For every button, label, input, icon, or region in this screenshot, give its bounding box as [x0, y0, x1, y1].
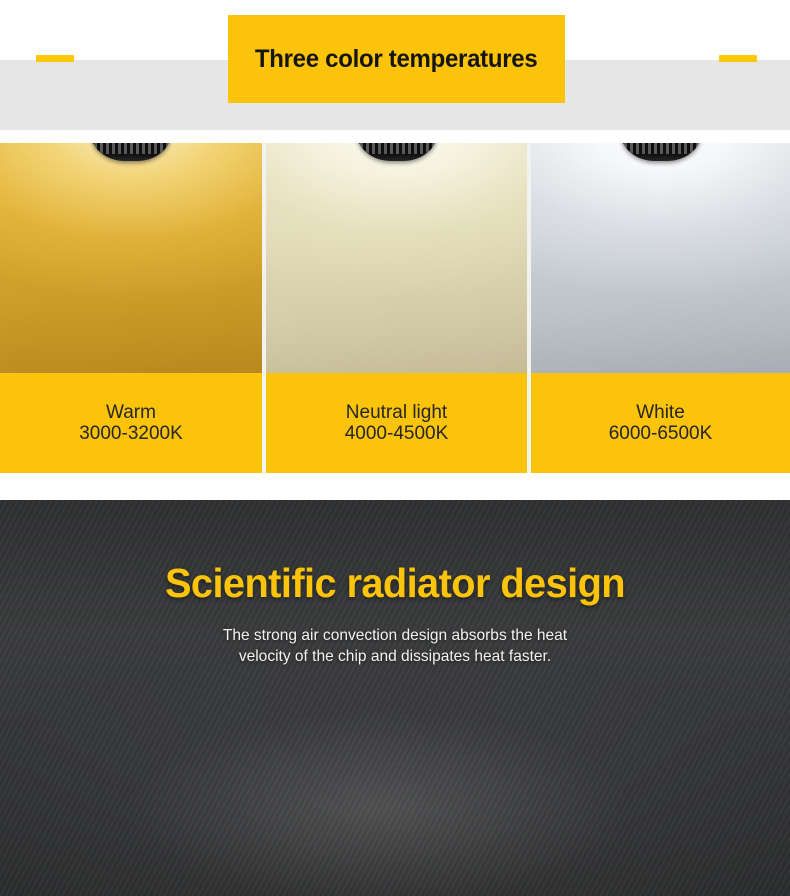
- radiator-subtitle-line1: The strong air convection design absorbs…: [12, 625, 778, 646]
- header-section: Three color temperatures: [0, 0, 790, 130]
- ceiling-lamp-icon: [357, 143, 437, 161]
- warm-label-band: Warm 3000-3200K: [0, 373, 262, 473]
- accent-dash-left-icon: [36, 55, 74, 62]
- radiator-subtitle: The strong air convection design absorbs…: [0, 625, 790, 667]
- ceiling-lamp-icon: [621, 143, 701, 161]
- warm-light-photo: [0, 143, 262, 373]
- white-label-kelvin: 6000-6500K: [609, 424, 713, 444]
- ceiling-lamp-icon: [91, 143, 171, 161]
- color-temperature-card-white[interactable]: White 6000-6500K: [531, 143, 790, 473]
- product-detail-page: Three color temperatures Warm 3000-3200K: [0, 0, 790, 896]
- warm-label-name: Warm: [106, 403, 156, 423]
- lamp-rim: [624, 154, 698, 161]
- page-title: Three color temperatures: [255, 45, 538, 74]
- warm-label-kelvin: 3000-3200K: [79, 424, 183, 444]
- neutral-label-band: Neutral light 4000-4500K: [266, 373, 527, 473]
- section-title-box: Three color temperatures: [228, 15, 565, 103]
- lamp-rim: [360, 154, 434, 161]
- radiator-section: Scientific radiator design The strong ai…: [0, 500, 790, 896]
- white-light-photo: [531, 143, 790, 373]
- color-temperature-panels: Warm 3000-3200K Neutral light 4000-4500K: [0, 143, 790, 473]
- neutral-label-name: Neutral light: [346, 403, 447, 423]
- radiator-subtitle-line2: velocity of the chip and dissipates heat…: [12, 646, 778, 667]
- accent-dash-right-icon: [719, 55, 757, 62]
- color-temperature-card-warm[interactable]: Warm 3000-3200K: [0, 143, 262, 473]
- neutral-label-kelvin: 4000-4500K: [345, 424, 449, 444]
- neutral-light-photo: [266, 143, 527, 373]
- color-temperature-card-neutral[interactable]: Neutral light 4000-4500K: [266, 143, 527, 473]
- white-label-band: White 6000-6500K: [531, 373, 790, 473]
- radiator-title: Scientific radiator design: [12, 560, 778, 607]
- lamp-rim: [94, 154, 168, 161]
- white-label-name: White: [636, 403, 685, 423]
